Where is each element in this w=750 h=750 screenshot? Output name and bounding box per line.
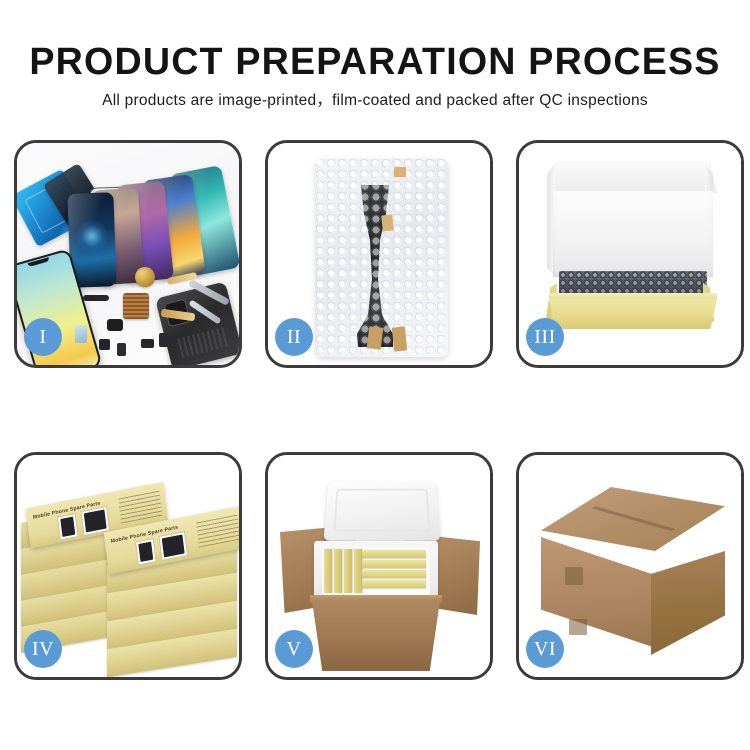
chip-icon	[117, 343, 126, 356]
carton-flap-mark	[569, 619, 587, 635]
process-step-1: I	[14, 140, 242, 368]
camera-module-icon	[107, 319, 123, 331]
process-step-3: III	[516, 140, 744, 368]
yellow-box-icon	[362, 580, 426, 588]
yellow-box-icon	[354, 549, 362, 593]
lid-printed-lines	[118, 490, 162, 524]
carton-left-face-icon	[541, 537, 653, 647]
speaker-module-icon	[135, 267, 155, 287]
step-badge-2: II	[275, 318, 313, 356]
yellow-box-front-icon	[549, 299, 717, 329]
kraft-tape-icon	[367, 326, 384, 350]
yellow-box-icon	[362, 570, 426, 578]
yellow-box-icon	[324, 549, 332, 593]
header: PRODUCT PREPARATION PROCESS All products…	[0, 0, 750, 110]
white-lid-inner-wall	[553, 191, 713, 277]
kraft-tape-icon	[394, 167, 406, 177]
yellow-box-icon	[362, 550, 426, 558]
page-title: PRODUCT PREPARATION PROCESS	[4, 42, 747, 82]
step-badge-5: V	[275, 630, 313, 668]
process-step-4: Mobile Phone Spare Parts Mobile Phone Sp…	[14, 452, 242, 680]
step-badge-1: I	[24, 318, 62, 356]
process-step-6: VI	[516, 452, 744, 680]
yellow-box-icon	[334, 549, 342, 593]
lid-window	[135, 538, 157, 566]
white-box-lid-icon	[549, 161, 717, 193]
process-step-grid: I II	[14, 140, 744, 680]
chip-icon	[141, 339, 154, 348]
yellow-box-icon	[362, 560, 426, 568]
process-step-2: II	[265, 140, 493, 368]
chip-icon	[99, 339, 110, 350]
kraft-tape-icon	[392, 326, 407, 351]
step-badge-4: IV	[24, 630, 62, 668]
carton-flap-mark	[565, 567, 583, 585]
lid-window	[158, 531, 188, 561]
product-preparation-infographic: PRODUCT PREPARATION PROCESS All products…	[0, 0, 750, 750]
pry-tool-icon	[75, 325, 87, 343]
process-step-5: V	[265, 452, 493, 680]
carton-right-face-icon	[651, 551, 725, 655]
circuit-board-icon	[123, 293, 149, 319]
bubble-wrap-bag-icon	[316, 159, 448, 357]
foam-lid-icon	[323, 482, 440, 541]
earpiece-mesh-icon	[83, 295, 109, 301]
kraft-tape-icon	[381, 214, 394, 231]
yellow-box-icon	[344, 549, 352, 593]
foam-box-interior	[322, 547, 430, 595]
carton-front-icon	[312, 601, 440, 671]
chip-icon	[159, 333, 169, 347]
page-subtitle: All products are image-printed，film-coat…	[0, 92, 750, 110]
lid-printed-lines	[196, 514, 239, 548]
lid-window	[57, 513, 79, 541]
step-badge-6: VI	[526, 630, 564, 668]
step-badge-3: III	[526, 318, 564, 356]
phone-back-housing-icon	[155, 281, 239, 365]
